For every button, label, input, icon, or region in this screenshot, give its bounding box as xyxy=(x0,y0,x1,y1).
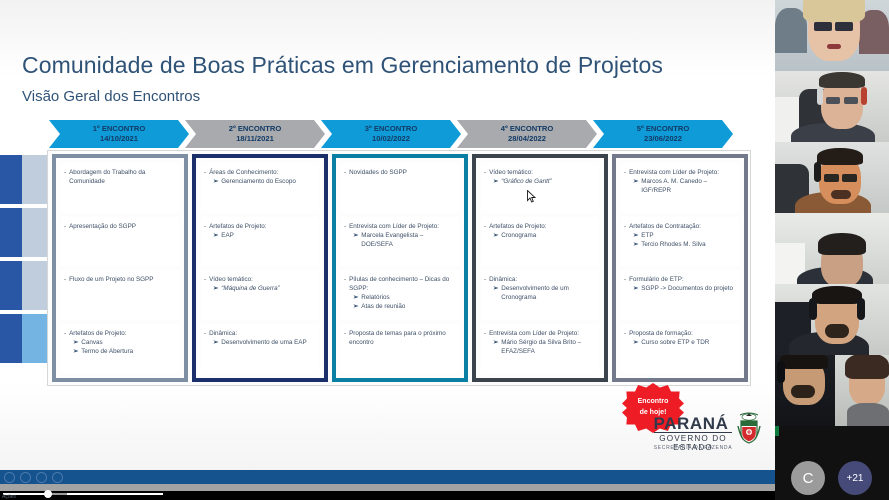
topic-text: Pílulas de conhecimento – Dicas do SGPP: xyxy=(349,275,455,293)
participant-tile[interactable] xyxy=(775,0,889,71)
timeline-chevron-date: 28/04/2022 xyxy=(508,134,546,144)
topic-text: Canvas xyxy=(81,338,175,347)
topic-text: “Gráfico de Gantt” xyxy=(501,177,595,186)
bullet-marker-icon: - xyxy=(344,168,346,177)
decor-bar-light xyxy=(22,155,47,204)
toolbar-grey-strip xyxy=(0,484,775,491)
decor-bar-dark xyxy=(0,261,22,310)
topic-text: Formulário de ETP: xyxy=(629,275,735,284)
decor-bar-dark xyxy=(0,208,22,257)
topic-card: -Proposta de temas para o próximo encont… xyxy=(341,324,459,374)
topic-text: Vídeo temático: xyxy=(209,275,315,284)
topic-text: Curso sobre ETP e TDR xyxy=(641,338,735,347)
topic-item: -Novidades do SGPP xyxy=(344,168,455,177)
bullet-marker-icon: ➢ xyxy=(633,240,638,249)
decor-bar-dark xyxy=(0,155,22,204)
topic-text: Dinâmica: xyxy=(489,275,595,284)
timeline-chevrons: 1º ENCONTRO14/10/20212º ENCONTRO18/11/20… xyxy=(49,120,729,148)
topic-card: -Formulário de ETP:➢SGPP -> Documentos d… xyxy=(621,270,739,320)
topic-subitem: ➢Cronograma xyxy=(484,231,595,240)
topic-subitem: ➢Atas de reunião xyxy=(344,302,455,311)
topic-text: Desenvolvimento de uma EAP xyxy=(221,338,315,347)
bullet-marker-icon: - xyxy=(204,222,206,231)
stamp-icon[interactable] xyxy=(20,472,31,483)
topic-subitem: ➢“Gráfico de Gantt” xyxy=(484,177,595,186)
participant-video-rail: C +21 xyxy=(775,0,889,500)
topic-item: -Artefatos de Contratação: xyxy=(624,222,735,231)
topic-card: -Artefatos de Contratação:➢ETP➢Tercio Rh… xyxy=(621,217,739,267)
topic-item: -Artefatos de Projeto: xyxy=(484,222,595,231)
topic-item: -Vídeo temático: xyxy=(204,275,315,284)
bullet-marker-icon: ➢ xyxy=(633,338,638,347)
topic-text: Apresentação do SGPP xyxy=(69,222,175,231)
encounter-column-2: -Áreas de Conhecimento:➢Gerenciamento do… xyxy=(192,154,328,382)
encounter-columns: -Abordagem do Trabalho da Comunidade-Apr… xyxy=(52,154,748,382)
participant-tile[interactable] xyxy=(775,142,889,213)
topic-subitem: ➢Relatórios xyxy=(344,293,455,302)
topic-text: Atas de reunião xyxy=(361,302,455,311)
timeline-chevron-label: 5º ENCONTRO xyxy=(637,124,690,134)
timeline-chevron-1[interactable]: 1º ENCONTRO14/10/2021 xyxy=(49,120,189,148)
topic-text: Artefatos de Contratação: xyxy=(629,222,735,231)
bullet-marker-icon: ➢ xyxy=(73,338,78,347)
decor-bar-light xyxy=(22,314,47,363)
topic-item: -Dinâmica: xyxy=(484,275,595,284)
participant-tile[interactable] xyxy=(775,355,889,426)
toolbar-corner-label: Ações xyxy=(2,494,16,500)
topic-text: Desenvolvimento de um Cronograma xyxy=(501,284,595,302)
topic-text: Marcos A. M. Canedo – IGF/REPR xyxy=(641,177,735,195)
coat-of-arms-icon xyxy=(736,410,762,450)
bullet-marker-icon: ➢ xyxy=(213,284,218,293)
topic-text: Novidades do SGPP xyxy=(349,168,455,177)
bullet-marker-icon: ➢ xyxy=(353,302,358,311)
topic-card: -Entrevista com Líder de Projeto:➢Mário … xyxy=(481,324,599,374)
topic-text: SGPP -> Documentos do projeto xyxy=(641,284,735,293)
topic-subitem: ➢ETP xyxy=(624,231,735,240)
bullet-marker-icon: ➢ xyxy=(73,347,78,356)
timeline-chevron-3[interactable]: 3º ENCONTRO10/02/2022 xyxy=(321,120,461,148)
participant-tile[interactable] xyxy=(775,284,889,355)
topic-item: -Apresentação do SGPP xyxy=(64,222,175,231)
bullet-marker-icon: - xyxy=(204,329,206,338)
topic-text: Cronograma xyxy=(501,231,595,240)
topic-subitem: ➢SGPP -> Documentos do projeto xyxy=(624,284,735,293)
topic-item: -Formulário de ETP: xyxy=(624,275,735,284)
topic-subitem: ➢Canvas xyxy=(64,338,175,347)
bullet-marker-icon: - xyxy=(204,275,206,284)
toolbar-strip xyxy=(0,470,775,484)
topic-text: Tercio Rhodes M. Silva xyxy=(641,240,735,249)
topic-item: -Pílulas de conhecimento – Dicas do SGPP… xyxy=(344,275,455,293)
minus-icon[interactable] xyxy=(52,472,63,483)
timeline-chevron-label: 2º ENCONTRO xyxy=(229,124,282,134)
topic-card: -Proposta de formação:➢Curso sobre ETP e… xyxy=(621,324,739,374)
encounter-column-3: -Novidades do SGPP-Entrevista com Líder … xyxy=(332,154,468,382)
topic-text: Artefatos de Projeto: xyxy=(209,222,315,231)
bullet-marker-icon: ➢ xyxy=(353,231,358,249)
participant-tile[interactable] xyxy=(775,71,889,142)
progress-slider-track[interactable] xyxy=(3,493,163,495)
topic-subitem: ➢Tercio Rhodes M. Silva xyxy=(624,240,735,249)
bullet-marker-icon: - xyxy=(344,222,346,231)
topic-text: Marcela Evangelista – DOE/SEFA xyxy=(361,231,455,249)
avatar-group: C +21 xyxy=(775,426,889,500)
topic-subitem: ➢Marcos A. M. Canedo – IGF/REPR xyxy=(624,177,735,195)
screen: Comunidade de Boas Práticas em Gerenciam… xyxy=(0,0,889,500)
bullet-marker-icon: - xyxy=(624,329,626,338)
topic-card: -Vídeo temático:➢“Máquina de Guerra” xyxy=(201,270,319,320)
bullet-marker-icon: - xyxy=(484,329,486,338)
mouse-cursor xyxy=(527,190,536,203)
topic-text: Dinâmica: xyxy=(209,329,315,338)
timeline-chevron-date: 10/02/2022 xyxy=(372,134,410,144)
bullet-marker-icon: - xyxy=(344,275,346,293)
topic-text: “Máquina de Guerra” xyxy=(221,284,315,293)
bullet-marker-icon: - xyxy=(624,222,626,231)
bullet-marker-icon: ➢ xyxy=(493,231,498,240)
topic-text: Mário Sérgio da Silva Brito – EFAZ/SEFA xyxy=(501,338,595,356)
encounter-column-1: -Abordagem do Trabalho da Comunidade-Apr… xyxy=(52,154,188,382)
topic-text: Artefatos de Projeto: xyxy=(69,329,175,338)
topic-card: -Abordagem do Trabalho da Comunidade xyxy=(61,163,179,213)
timeline-chevron-2[interactable]: 2º ENCONTRO18/11/2021 xyxy=(185,120,325,148)
topic-card: -Novidades do SGPP xyxy=(341,163,459,213)
topic-card: -Dinâmica:➢Desenvolvimento de um Cronogr… xyxy=(481,270,599,320)
today-badge-line1: Encontro xyxy=(638,397,669,408)
topic-item: -Entrevista com Líder de Projeto: xyxy=(344,222,455,231)
topic-text: Gerenciamento do Escopo xyxy=(221,177,315,186)
topic-item: -Vídeo temático: xyxy=(484,168,595,177)
bullet-marker-icon: ➢ xyxy=(213,177,218,186)
bullet-marker-icon: - xyxy=(624,275,626,284)
topic-subitem: ➢Curso sobre ETP e TDR xyxy=(624,338,735,347)
topic-item: -Entrevista com Líder de Projeto: xyxy=(624,168,735,177)
encounter-column-5: -Entrevista com Líder de Projeto:➢Marcos… xyxy=(612,154,748,382)
topic-subitem: ➢EAP xyxy=(204,231,315,240)
logo-rule xyxy=(654,432,732,433)
bullet-marker-icon: - xyxy=(484,168,486,177)
topic-text: Vídeo temático: xyxy=(489,168,595,177)
bullet-marker-icon: ➢ xyxy=(493,338,498,356)
avatar[interactable]: C xyxy=(791,461,825,495)
encounter-column-4: -Vídeo temático:➢“Gráfico de Gantt”-Arte… xyxy=(472,154,608,382)
logo-secretariat-line: SECRETARIA DA FAZENDA xyxy=(650,445,736,451)
topic-card: -Pílulas de conhecimento – Dicas do SGPP… xyxy=(341,270,459,320)
topic-text: ETP xyxy=(641,231,735,240)
topic-card: -Entrevista com Líder de Projeto:➢Marcel… xyxy=(341,217,459,267)
topic-subitem: ➢“Máquina de Guerra” xyxy=(204,284,315,293)
participant-tile[interactable] xyxy=(775,213,889,284)
topic-item: -Artefatos de Projeto: xyxy=(204,222,315,231)
bullet-marker-icon: - xyxy=(484,275,486,284)
bullet-marker-icon: ➢ xyxy=(353,293,358,302)
timeline-chevron-label: 3º ENCONTRO xyxy=(365,124,418,134)
bullet-marker-icon: ➢ xyxy=(493,177,498,186)
bullet-marker-icon: - xyxy=(344,329,346,347)
topic-card: -Artefatos de Projeto:➢EAP xyxy=(201,217,319,267)
decor-bar-dark xyxy=(0,314,22,363)
bullet-marker-icon: - xyxy=(484,222,486,231)
page-title: Comunidade de Boas Práticas em Gerenciam… xyxy=(22,52,663,79)
topic-text: Áreas de Conhecimento: xyxy=(209,168,315,177)
topic-text: Proposta de temas para o próximo encontr… xyxy=(349,329,455,347)
timeline-chevron-date: 23/06/2022 xyxy=(644,134,682,144)
topic-item: -Proposta de formação: xyxy=(624,329,735,338)
topic-text: Relatórios xyxy=(361,293,455,302)
topic-item: -Áreas de Conhecimento: xyxy=(204,168,315,177)
progress-slider-knob[interactable] xyxy=(44,490,52,498)
topic-card: -Vídeo temático:➢“Gráfico de Gantt” xyxy=(481,163,599,213)
topic-card: -Artefatos de Projeto:➢Cronograma xyxy=(481,217,599,267)
bullet-marker-icon: - xyxy=(64,275,66,284)
topic-item: -Artefatos de Projeto: xyxy=(64,329,175,338)
topic-subitem: ➢Marcela Evangelista – DOE/SEFA xyxy=(344,231,455,249)
topic-text: Artefatos de Projeto: xyxy=(489,222,595,231)
timeline-chevron-label: 4º ENCONTRO xyxy=(501,124,554,134)
topic-text: Entrevista com Líder de Projeto: xyxy=(349,222,455,231)
topic-card: -Dinâmica:➢Desenvolvimento de uma EAP xyxy=(201,324,319,374)
logo-wordmark: PARANÁ xyxy=(650,414,732,434)
bullet-marker-icon: - xyxy=(64,222,66,231)
viewer-bottom-bar: Ações xyxy=(0,470,775,500)
topic-item: -Fluxo de um Projeto no SGPP xyxy=(64,275,175,284)
bullet-marker-icon: - xyxy=(204,168,206,177)
topic-text: Termo de Abertura xyxy=(81,347,175,356)
bullet-marker-icon: - xyxy=(64,329,66,338)
topic-subitem: ➢Termo de Abertura xyxy=(64,347,175,356)
topic-text: Entrevista com Líder de Projeto: xyxy=(489,329,595,338)
topic-subitem: ➢Desenvolvimento de uma EAP xyxy=(204,338,315,347)
bullet-marker-icon: ➢ xyxy=(493,284,498,302)
timeline-chevron-date: 14/10/2021 xyxy=(100,134,138,144)
timeline-chevron-date: 18/11/2021 xyxy=(236,134,274,144)
bullet-marker-icon: ➢ xyxy=(633,177,638,195)
topic-item: -Dinâmica: xyxy=(204,329,315,338)
topic-card: -Áreas de Conhecimento:➢Gerenciamento do… xyxy=(201,163,319,213)
page-subtitle: Visão Geral dos Encontros xyxy=(22,88,200,105)
parana-logo: PARANÁ GOVERNO DO ESTADO SECRETARIA DA F… xyxy=(650,410,762,458)
bullet-marker-icon: ➢ xyxy=(213,338,218,347)
timeline-chevron-4[interactable]: 4º ENCONTRO28/04/2022 xyxy=(457,120,597,148)
topic-subitem: ➢Gerenciamento do Escopo xyxy=(204,177,315,186)
bullet-marker-icon: ➢ xyxy=(633,284,638,293)
decor-bar-light xyxy=(22,208,47,257)
avatar-overflow-count[interactable]: +21 xyxy=(838,461,872,495)
presentation-slide: Comunidade de Boas Práticas em Gerenciam… xyxy=(0,0,775,500)
topic-text: Proposta de formação: xyxy=(629,329,735,338)
topic-text: Entrevista com Líder de Projeto: xyxy=(629,168,735,177)
topic-subitem: ➢Desenvolvimento de um Cronograma xyxy=(484,284,595,302)
topic-text: EAP xyxy=(221,231,315,240)
topic-item: -Entrevista com Líder de Projeto: xyxy=(484,329,595,338)
topic-card: -Artefatos de Projeto:➢Canvas➢Termo de A… xyxy=(61,324,179,374)
timeline-chevron-5[interactable]: 5º ENCONTRO23/06/2022 xyxy=(593,120,733,148)
bullet-marker-icon: - xyxy=(624,168,626,177)
bullet-marker-icon: ➢ xyxy=(633,231,638,240)
topic-card: -Entrevista com Líder de Projeto:➢Marcos… xyxy=(621,163,739,213)
magnifier-icon[interactable] xyxy=(36,472,47,483)
decor-bar-light xyxy=(22,261,47,310)
topic-card: -Apresentação do SGPP xyxy=(61,217,179,267)
topic-text: Abordagem do Trabalho da Comunidade xyxy=(69,168,175,186)
topic-text: Fluxo de um Projeto no SGPP xyxy=(69,275,175,284)
bullet-marker-icon: ➢ xyxy=(213,231,218,240)
timeline-chevron-label: 1º ENCONTRO xyxy=(93,124,146,134)
bullet-marker-icon: - xyxy=(64,168,66,186)
topic-card: -Fluxo de um Projeto no SGPP xyxy=(61,270,179,320)
pen-icon[interactable] xyxy=(4,472,15,483)
topic-subitem: ➢Mário Sérgio da Silva Brito – EFAZ/SEFA xyxy=(484,338,595,356)
topic-item: -Abordagem do Trabalho da Comunidade xyxy=(64,168,175,186)
topic-item: -Proposta de temas para o próximo encont… xyxy=(344,329,455,347)
